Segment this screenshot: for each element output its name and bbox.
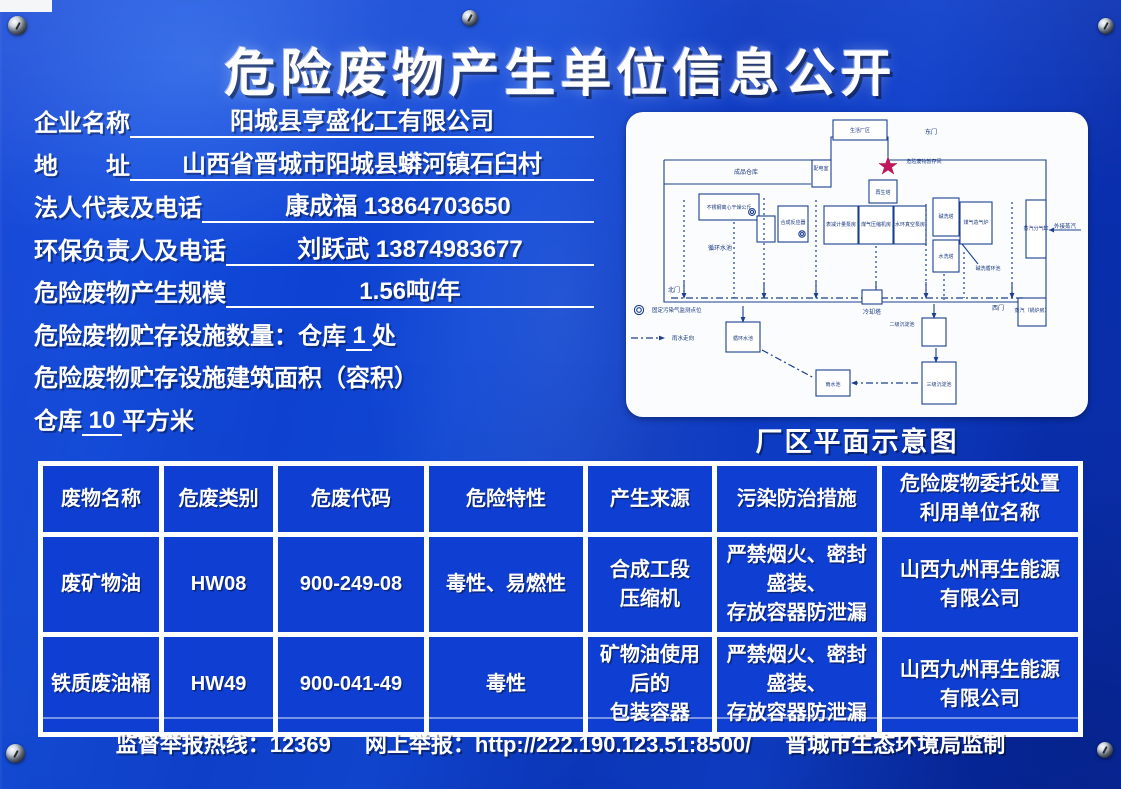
cell-source-line1: 矿物油使用后的 [591, 641, 709, 699]
mounting-bolt-top-center [462, 10, 478, 26]
hazardous-waste-table: 废物名称 危废类别 危废代码 危险特性 产生来源 污染防治措施 危险废物委托处置… [38, 461, 1083, 737]
info-row-address: 地 址 山西省晋城市阳城县蟒河镇石臼村 [34, 151, 594, 181]
diagram-label-cooling-tower: 冷却塔 [863, 308, 881, 316]
diagram-label-office-area: 生活厂区 [850, 127, 870, 134]
info-suffix-storage-area: 平方米 [122, 408, 194, 436]
cell-hazard: 毒性、易燃性 [429, 537, 583, 632]
diagram-label-external-steam: 外接蒸汽 [1054, 222, 1077, 230]
info-row-generation-scale: 危险废物产生规模 1.56吨/年 [34, 278, 594, 308]
info-suffix-storage-count: 处 [372, 323, 396, 351]
info-prefix-storage-area: 仓库 [34, 408, 82, 436]
cell-measures-line2: 存放容器防泄漏 [720, 699, 874, 728]
cell-category: HW08 [164, 537, 273, 632]
info-label-address: 地 址 [34, 153, 130, 181]
footer-hotline: 监督举报热线：12369 [116, 727, 331, 759]
diagram-label-three-stage-septic: 三级沉淀池 [926, 381, 951, 388]
info-value-env-officer: 刘跃武 13874983677 [226, 236, 594, 266]
hazardous-waste-table-wrap: 废物名称 危废类别 危废代码 危险特性 产生来源 污染防治措施 危险废物委托处置… [38, 461, 1083, 737]
cell-source-line1: 合成工段 [591, 556, 709, 585]
diagram-label-circulating-water-note: 循环水池 [708, 244, 732, 252]
diagram-label-secondary-sedimentation: 二级沉淀池 [889, 321, 914, 328]
information-board: 危险废物产生单位信息公开 企业名称 阳城县亨盛化工有限公司 地 址 山西省晋城市… [0, 0, 1121, 789]
diagram-label-water-wash-tower: 水洗塔 [938, 253, 953, 260]
footer-authority: 晋城市生态环境局监制 [785, 727, 1005, 759]
cell-entrusted: 山西九州再生能源 有限公司 [882, 537, 1078, 632]
table-header-entrusted-line2: 利用单位名称 [885, 499, 1075, 528]
diagram-label-warehouse: 成品仓库 [734, 168, 758, 176]
table-header-hazard: 危险特性 [429, 466, 583, 532]
diagram-label-metering-pump-room: 表减计量泵房 [826, 221, 856, 228]
diagram-label-circulating-water-pool: 循环水池 [733, 335, 753, 342]
diagram-caption: 厂区平面示意图 [626, 420, 1088, 459]
diagram-label-desulfur-tower: 碱洗塔 [938, 213, 953, 220]
table-row: 废矿物油 HW08 900-249-08 毒性、易燃性 合成工段 压缩机 严禁烟… [43, 537, 1078, 632]
diagram-label-east-gate: 东门 [925, 128, 937, 136]
diagram-legend-rain-direction: 雨水走向 [672, 334, 694, 342]
site-plan-diagram: .ln{stroke:#1b3f8f;stroke-width:1.1;fill… [626, 112, 1088, 417]
info-label-storage-count: 危险废物贮存设施数量：仓库 [34, 323, 346, 351]
cell-waste-name: 废矿物油 [43, 537, 159, 632]
table-header-waste-name: 废物名称 [43, 466, 159, 532]
diagram-label-north-gate: 北门 [668, 286, 680, 294]
footer-online-report: 网上举报：http://222.190.123.51:8500/ [365, 727, 751, 759]
table-header-code: 危废代码 [278, 466, 424, 532]
info-row-storage-area-label: 危险废物贮存设施建筑面积（容积） [34, 363, 594, 393]
diagram-label-water-ring-vacuum: 水环真空泵房 [895, 221, 925, 228]
info-label-legal-rep: 法人代表及电话 [34, 195, 202, 223]
info-row-company-name: 企业名称 阳城县亨盛化工有限公司 [34, 108, 594, 138]
diagram-label-west-gate: 西门 [992, 304, 1004, 312]
table-header-entrusted-line1: 危险废物委托处置 [885, 470, 1075, 499]
footer-divider [40, 717, 1080, 719]
diagram-label-steam-manifold: 蒸汽分气缸 [1023, 225, 1048, 232]
info-row-storage-count: 危险废物贮存设施数量：仓库 1 处 [34, 321, 594, 351]
cell-entrusted-line2: 有限公司 [885, 685, 1075, 714]
cell-code: 900-249-08 [278, 537, 424, 632]
cell-measures-line1: 严禁烟火、密封盛装、 [720, 641, 874, 699]
info-label-generation-scale: 危险废物产生规模 [34, 280, 226, 308]
page-title: 危险废物产生单位信息公开 [0, 32, 1121, 106]
info-value-legal-rep: 康成福 13864703650 [202, 193, 594, 223]
table-header-measures: 污染防治措施 [717, 466, 877, 532]
cell-measures-line2: 存放容器防泄漏 [720, 599, 874, 628]
cell-measures-line1: 严禁烟火、密封盛装、 [720, 541, 874, 599]
info-label-storage-area: 危险废物贮存设施建筑面积（容积） [34, 365, 418, 393]
info-row-env-officer: 环保负责人及电话 刘跃武 13874983677 [34, 236, 594, 266]
diagram-label-rain-pool: 雨水池 [825, 381, 840, 388]
info-label-company-name: 企业名称 [34, 110, 130, 138]
cell-source-line2: 压缩机 [591, 585, 709, 614]
diagram-label-gas-compressor-room: 煤气压缩机房 [861, 221, 891, 228]
footer-bar: 监督举报热线：12369 网上举报：http://222.190.123.51:… [0, 727, 1121, 759]
info-row-legal-rep: 法人代表及电话 康成福 13864703650 [34, 193, 594, 223]
table-header-category: 危废类别 [164, 466, 273, 532]
table-header-source: 产生来源 [588, 466, 712, 532]
diagram-label-gas-furnace: 煤气造气炉 [963, 219, 988, 226]
diagram-label-boiler-room: 蒸汽（锅炉房） [1014, 307, 1049, 314]
diagram-label-power-room: 配电室 [813, 165, 828, 172]
cell-entrusted-line1: 山西九州再生能源 [885, 656, 1075, 685]
info-value-storage-area: 10 [82, 408, 122, 436]
info-label-env-officer: 环保负责人及电话 [34, 238, 226, 266]
cell-measures: 严禁烟火、密封盛装、 存放容器防泄漏 [717, 537, 877, 632]
info-value-company-name: 阳城县亨盛化工有限公司 [130, 108, 594, 138]
table-header-entrusted: 危险废物委托处置 利用单位名称 [882, 466, 1078, 532]
board-top-notch [0, 0, 52, 12]
info-value-address: 山西省晋城市阳城县蟒河镇石臼村 [130, 151, 594, 181]
info-value-storage-count: 1 [346, 323, 372, 351]
diagram-label-desulfur-circ-pool: 碱洗循环池 [975, 265, 1000, 272]
diagram-legend-monitor-point: 固定污染气监测点位 [652, 306, 702, 314]
cell-entrusted-line1: 山西九州再生能源 [885, 556, 1075, 585]
diagram-label-synth-reactor: 合成反应器 [780, 219, 805, 226]
cell-entrusted-line2: 有限公司 [885, 585, 1075, 614]
diagram-label-centrifuge: 不锈钢离心干燥公斤 [706, 204, 751, 211]
company-info-block: 企业名称 阳城县亨盛化工有限公司 地 址 山西省晋城市阳城县蟒河镇石臼村 法人代… [34, 108, 594, 448]
info-value-generation-scale: 1.56吨/年 [226, 278, 594, 308]
info-row-storage-area-value: 仓库 10 平方米 [34, 406, 594, 436]
cell-source: 合成工段 压缩机 [588, 537, 712, 632]
diagram-label-hazard-store-1: 危险废物暂存间 [906, 158, 941, 165]
diagram-label-regen-tower: 再生塔 [875, 189, 890, 196]
cell-source-line2: 包装容器 [591, 699, 709, 728]
table-header-row: 废物名称 危废类别 危废代码 危险特性 产生来源 污染防治措施 危险废物委托处置… [43, 466, 1078, 532]
